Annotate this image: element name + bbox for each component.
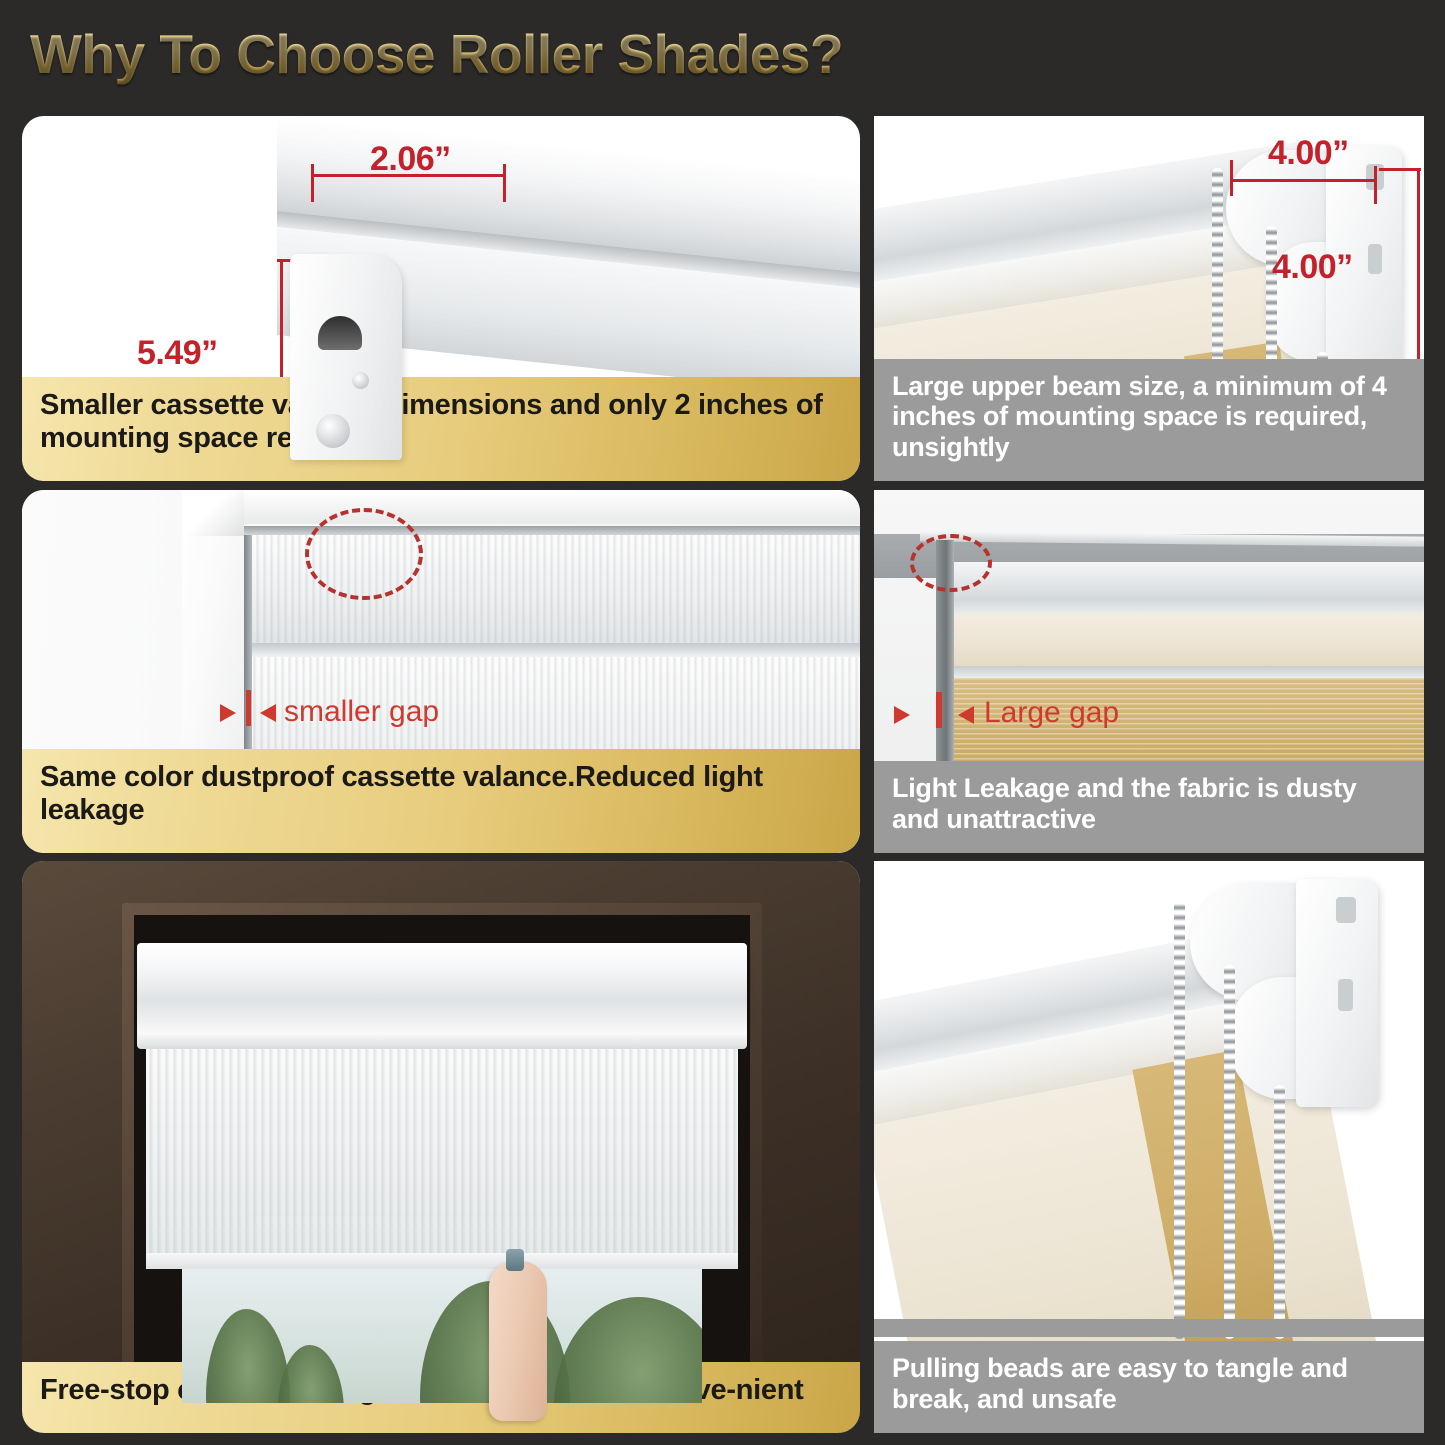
- end-cap-slot: [318, 316, 362, 350]
- window-frame-inner: [134, 915, 750, 1403]
- beam-height-line: [1417, 168, 1420, 366]
- width-dimension-label: 2.06”: [370, 140, 451, 179]
- window-trim-corner: [182, 490, 244, 536]
- beam-width-tick-right: [1374, 166, 1377, 204]
- beam-height-tick-top: [1379, 168, 1421, 171]
- bracket-mount-hole-bottom: [1338, 979, 1353, 1011]
- panel-smaller-gap: smaller gap Same color dustproof cassett…: [22, 490, 860, 853]
- surface-shadow: [874, 1319, 1424, 1337]
- page-title: Why To Choose Roller Shades?: [30, 22, 843, 86]
- panel-large-beam: 4.00” 4.00” Large upper beam size, a min…: [874, 116, 1424, 481]
- hand-pulling-shade: [489, 1261, 547, 1421]
- panel-caption: Same color dustproof cassette valance.Re…: [22, 749, 860, 853]
- roller-tube: [946, 562, 1424, 616]
- gap-highlight-circle: [305, 508, 423, 600]
- panel-caption: Smaller cassette valance dimensions and …: [22, 377, 860, 481]
- beam-width-line: [1230, 179, 1376, 182]
- valance-end-cap: [290, 254, 402, 460]
- roller-shade-fabric: [146, 1045, 738, 1265]
- shade-pull-tab: [506, 1249, 524, 1271]
- bead-chain-front: [1174, 901, 1185, 1339]
- fabric-cream-front: [950, 614, 1424, 666]
- panel-large-gap: Large gap Light Leakage and the fabric i…: [874, 490, 1424, 853]
- room-scene-photo: [22, 861, 860, 1433]
- bracket-mount-hole-bottom: [1368, 244, 1382, 274]
- end-cap-screw-upper: [352, 372, 369, 389]
- beam-height-label: 4.00”: [1272, 248, 1353, 287]
- panel-cassette-dimensions: 2.06” 5.49” Smaller cassette valance dim…: [22, 116, 860, 481]
- shade-bottom-rail: [146, 1253, 738, 1269]
- gap-arrow-right: [260, 704, 276, 722]
- window-trim-top: [182, 490, 860, 524]
- end-cap-screw-lower: [316, 414, 350, 448]
- beam-width-tick-left: [1230, 160, 1233, 196]
- fabric-lower-lip: [950, 666, 1424, 678]
- panel-caption: Large upper beam size, a minimum of 4 in…: [874, 359, 1424, 481]
- gap-callout-label: smaller gap: [284, 695, 439, 729]
- height-dimension-label: 5.49”: [137, 334, 218, 373]
- beam-width-label: 4.00”: [1268, 134, 1349, 173]
- window-glass: [182, 1267, 702, 1403]
- tree-left: [206, 1309, 290, 1403]
- title-bar: Why To Choose Roller Shades?: [0, 0, 1445, 108]
- cassette-valance: [137, 943, 747, 1025]
- panel-caption: Pulling beads are easy to tangle and bre…: [874, 1341, 1424, 1433]
- width-dim-tick-right: [503, 164, 506, 202]
- panel-caption: Light Leakage and the fabric is dusty an…: [874, 761, 1424, 853]
- valance-lower-lip: [246, 643, 860, 657]
- tree-left-small: [278, 1345, 344, 1403]
- window-frame: [122, 903, 762, 1403]
- panel-cordless-design: Free-stop cordless design is safer and m…: [22, 861, 860, 1433]
- width-dim-tick-left: [311, 164, 314, 202]
- cassette-valance-lip: [137, 1015, 747, 1049]
- panel-pulling-beads: Pulling beads are easy to tangle and bre…: [874, 861, 1424, 1433]
- bracket-mount-hole-top: [1336, 897, 1356, 923]
- gap-highlight-circle: [910, 534, 992, 592]
- bead-chain-middle: [1224, 965, 1235, 1339]
- gap-marker-line: [246, 690, 251, 726]
- gap-arrow-left: [894, 706, 910, 724]
- gap-arrow-left: [220, 704, 236, 722]
- tree-right: [554, 1297, 702, 1403]
- gap-arrow-right: [958, 706, 974, 724]
- gap-callout-label: Large gap: [984, 696, 1119, 730]
- comparison-grid: 2.06” 5.49” Smaller cassette valance dim…: [0, 108, 1445, 1445]
- bead-chain-rear: [1274, 1085, 1285, 1339]
- gap-marker-line: [936, 692, 942, 728]
